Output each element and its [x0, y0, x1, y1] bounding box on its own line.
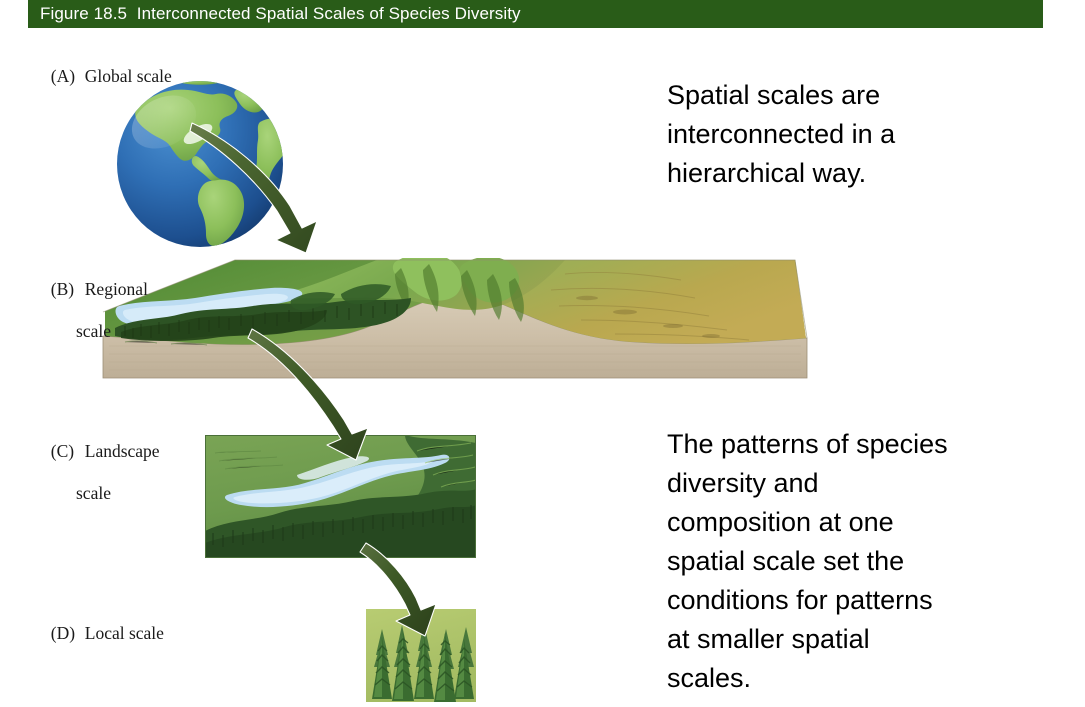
panel-d-tag: (D) [51, 623, 85, 644]
panel-b-regional-illustration [95, 250, 815, 400]
panel-b-label-text-2: scale [76, 321, 148, 342]
panel-d-label-text: Local scale [85, 623, 164, 644]
panel-d-local-illustration [366, 609, 476, 702]
figure-title: Figure 18.5 Interconnected Spatial Scale… [28, 4, 521, 24]
figure-header-bar: Figure 18.5 Interconnected Spatial Scale… [28, 0, 1043, 28]
landscape-lake-forest-icon [205, 435, 476, 558]
panel-c-label-text: Landscape [85, 441, 160, 462]
panel-c-label-text-2: scale [76, 483, 160, 504]
callout-text-top: Spatial scales are interconnected in a h… [667, 76, 1067, 193]
panel-b-tag: (B) [51, 279, 85, 300]
panel-a-global-illustration [112, 76, 292, 248]
panel-b-label: (B)Regional scale [42, 258, 148, 363]
panel-c-landscape-illustration [205, 435, 476, 558]
panel-d-label: (D)Local scale [42, 602, 164, 644]
callout-text-bottom: The patterns of species diversity and co… [667, 425, 1067, 698]
panel-c-tag: (C) [51, 441, 85, 462]
panel-a-label-text: Global scale [85, 66, 172, 87]
regional-terrain-block-icon [95, 250, 815, 400]
earth-globe-icon [112, 76, 292, 248]
panel-c-label: (C)Landscape scale [42, 420, 160, 525]
local-conifer-stand-icon [366, 609, 476, 702]
panel-a-label: (A)Global scale [42, 45, 172, 87]
panel-b-label-text: Regional [85, 279, 148, 300]
panel-a-tag: (A) [51, 66, 85, 87]
